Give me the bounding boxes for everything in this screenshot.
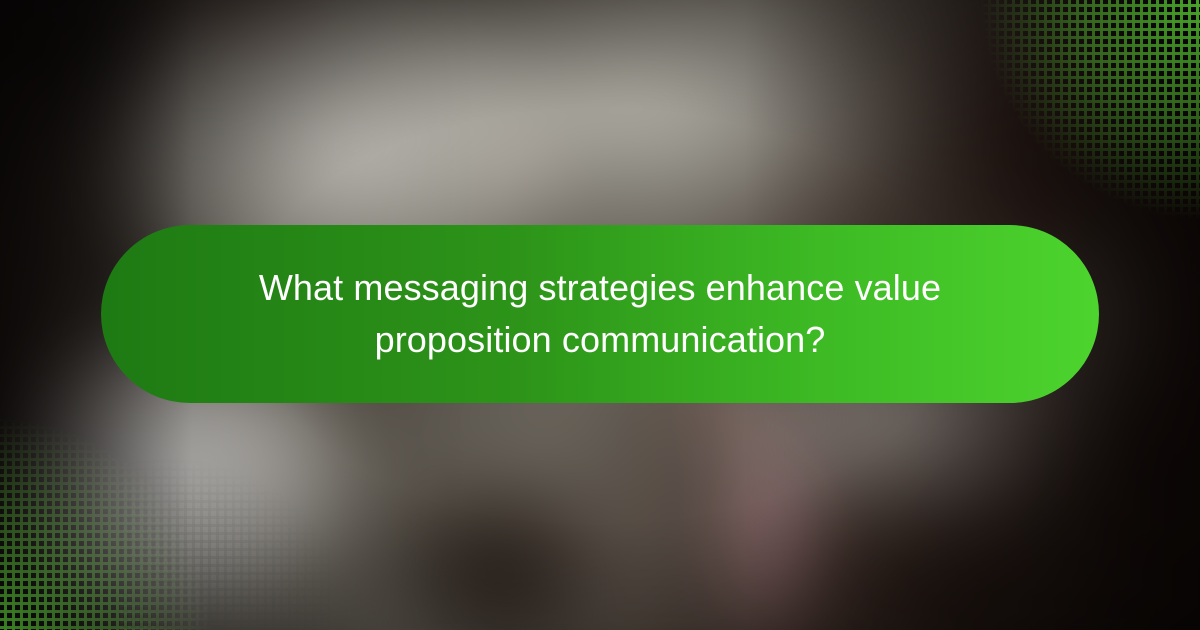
question-card-canvas: What messaging strategies enhance value …	[0, 0, 1200, 630]
question-pill: What messaging strategies enhance value …	[101, 225, 1099, 403]
question-text: What messaging strategies enhance value …	[240, 262, 960, 366]
green-dot-grid-bottom-left	[0, 394, 236, 630]
green-dot-grid-top-right	[964, 0, 1200, 236]
